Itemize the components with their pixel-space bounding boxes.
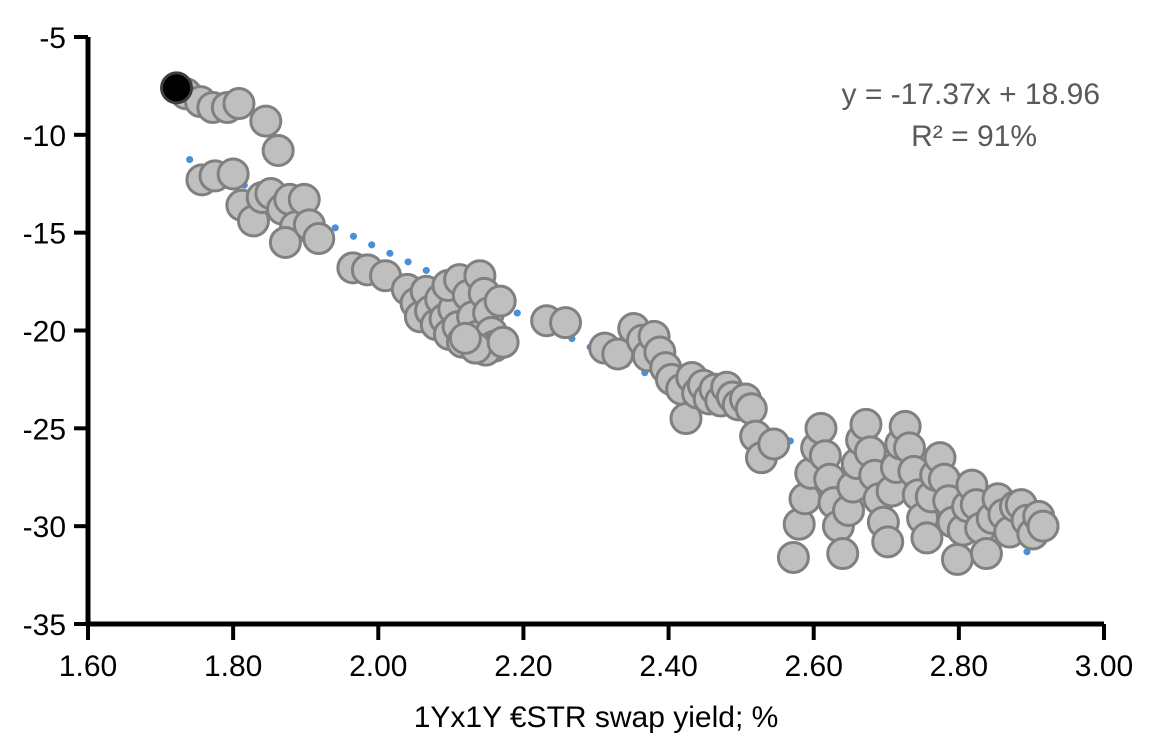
scatter-point [218, 159, 248, 189]
scatter-point [224, 89, 254, 119]
scatter-point [851, 409, 881, 439]
y-axis-ticks: -5-10-15-20-25-30-35 [23, 22, 88, 642]
regression-equation-label: y = -17.37x + 18.96 [841, 78, 1100, 111]
y-tick-label: -15 [23, 218, 66, 251]
y-tick-label: -30 [23, 511, 66, 544]
scatter-point [263, 135, 293, 165]
highlighted-scatter-point [162, 73, 192, 103]
x-tick-label: 2.80 [930, 650, 988, 683]
x-axis-title: 1Yx1Y €STR swap yield; % [414, 701, 779, 734]
scatter-point [304, 224, 334, 254]
x-tick-label: 2.40 [639, 650, 697, 683]
x-tick-label: 2.60 [785, 650, 843, 683]
highlighted-marker [162, 73, 192, 103]
scatter-point [485, 286, 515, 316]
scatter-point [942, 544, 972, 574]
scatter-markers [171, 79, 1058, 575]
scatter-point [488, 327, 518, 357]
scatter-point [806, 413, 836, 443]
scatter-point [759, 429, 789, 459]
y-tick-label: -35 [23, 609, 66, 642]
y-tick-label: -20 [23, 316, 66, 349]
y-tick-label: -25 [23, 413, 66, 446]
x-tick-label: 1.80 [204, 650, 262, 683]
scatter-point [971, 539, 1001, 569]
scatter-point [828, 539, 858, 569]
scatter-point [551, 308, 581, 338]
y-tick-label: -5 [39, 22, 66, 55]
scatter-point [778, 542, 808, 572]
scatter-point [1028, 511, 1058, 541]
x-tick-label: 2.20 [494, 650, 552, 683]
chart-canvas: -5-10-15-20-25-30-35 1.601.802.002.202.4… [0, 0, 1152, 745]
scatter-point [873, 527, 903, 557]
scatter-point [450, 323, 480, 353]
x-tick-label: 2.00 [349, 650, 407, 683]
x-tick-label: 1.60 [59, 650, 117, 683]
r-squared-label: R² = 91% [911, 120, 1037, 153]
x-axis-ticks: 1.601.802.002.202.402.602.803.00 [59, 624, 1133, 683]
scatter-point [251, 106, 281, 136]
scatter-chart: -5-10-15-20-25-30-35 1.601.802.002.202.4… [0, 0, 1152, 745]
y-tick-label: -10 [23, 120, 66, 153]
x-tick-label: 3.00 [1075, 650, 1133, 683]
scatter-point [736, 394, 766, 424]
